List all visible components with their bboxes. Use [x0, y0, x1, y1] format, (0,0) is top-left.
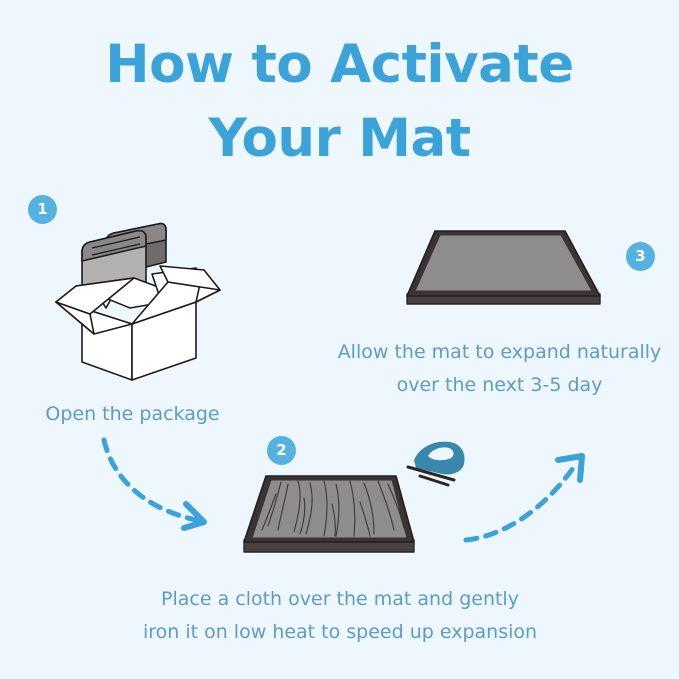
arrow-step1-to-step2 [100, 432, 230, 547]
page-title-line-2: Your Mat [0, 102, 679, 176]
page-title: How to Activate Your Mat [0, 28, 679, 176]
flat-mat-illustration [396, 222, 616, 322]
step-1-caption-text: Open the package [45, 403, 219, 425]
step-badge-3: 3 [626, 242, 655, 271]
step-badge-1: 1 [28, 195, 57, 224]
step-3-caption: Allow the mat to expand naturally over t… [320, 336, 679, 402]
step-1-caption: Open the package [0, 398, 265, 431]
infographic-canvas: How to Activate Your Mat 1 [0, 0, 679, 679]
arrow-step2-to-step3 [460, 440, 600, 555]
open-box-illustration [48, 222, 248, 387]
step-3-caption-line-2: over the next 3-5 day [320, 369, 679, 402]
page-title-line-1: How to Activate [0, 28, 679, 102]
step-2-caption-line-2: iron it on low heat to speed up expansio… [55, 616, 625, 649]
step-badge-2: 2 [267, 436, 296, 465]
step-2-caption: Place a cloth over the mat and gently ir… [55, 583, 625, 649]
step-2-caption-line-1: Place a cloth over the mat and gently [55, 583, 625, 616]
step-3-caption-line-1: Allow the mat to expand naturally [320, 336, 679, 369]
